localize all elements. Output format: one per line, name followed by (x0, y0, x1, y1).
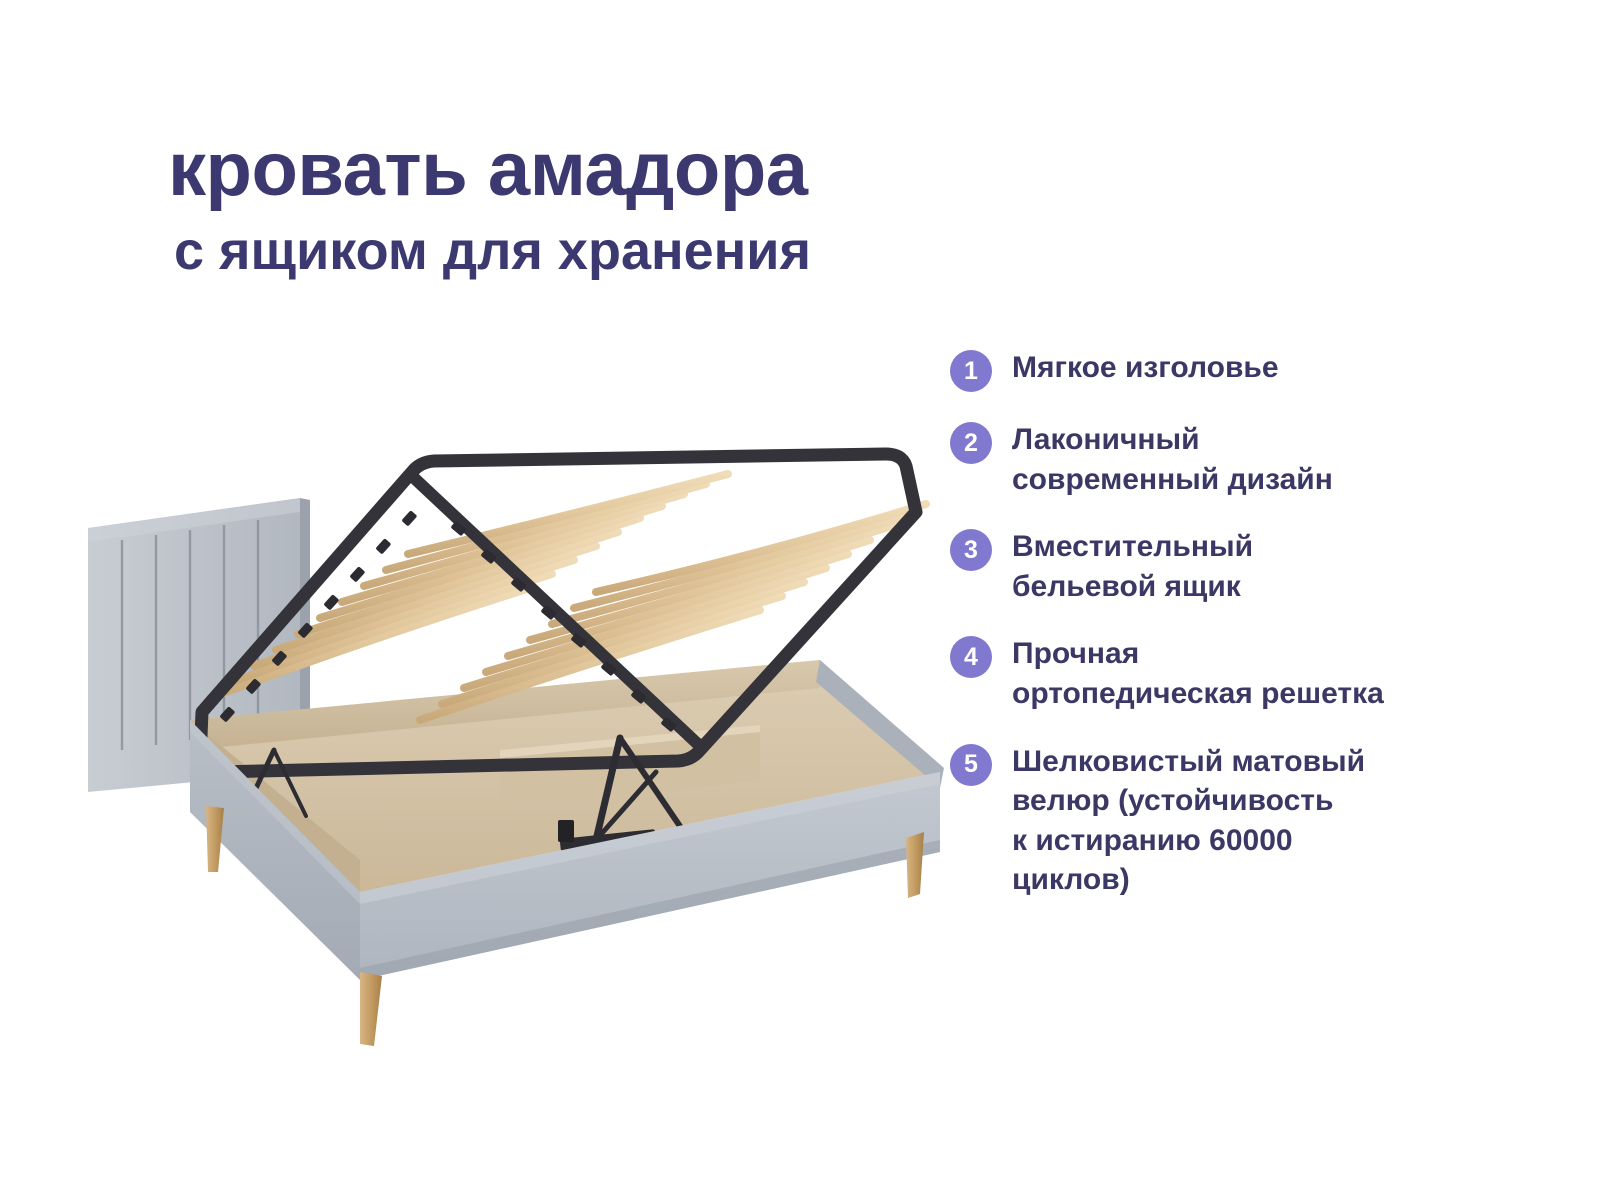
feature-number-badge: 2 (950, 422, 992, 464)
list-item: 4 Прочная ортопедическая решетка (950, 634, 1470, 713)
product-subtitle: с ящиком для хранения (174, 224, 1088, 278)
list-item: 2 Лаконичный современный дизайн (950, 420, 1470, 499)
product-image (60, 420, 950, 1070)
feature-number-badge: 5 (950, 744, 992, 786)
product-title: кровать амадора (168, 132, 1088, 208)
page-title: кровать амадора с ящиком для хранения (168, 132, 1088, 278)
feature-list: 1 Мягкое изголовье 2 Лаконичный современ… (950, 348, 1470, 928)
feature-label: Лаконичный современный дизайн (1012, 420, 1333, 499)
feature-label: Вместительный бельевой ящик (1012, 527, 1253, 606)
feature-number-badge: 3 (950, 529, 992, 571)
feature-number-badge: 4 (950, 636, 992, 678)
feature-label: Шелковистый матовый велюр (устойчивость … (1012, 742, 1365, 900)
list-item: 3 Вместительный бельевой ящик (950, 527, 1470, 606)
list-item: 5 Шелковистый матовый велюр (устойчивост… (950, 742, 1470, 900)
list-item: 1 Мягкое изголовье (950, 348, 1470, 392)
feature-number-badge: 1 (950, 350, 992, 392)
feature-label: Прочная ортопедическая решетка (1012, 634, 1384, 713)
feature-label: Мягкое изголовье (1012, 348, 1279, 388)
